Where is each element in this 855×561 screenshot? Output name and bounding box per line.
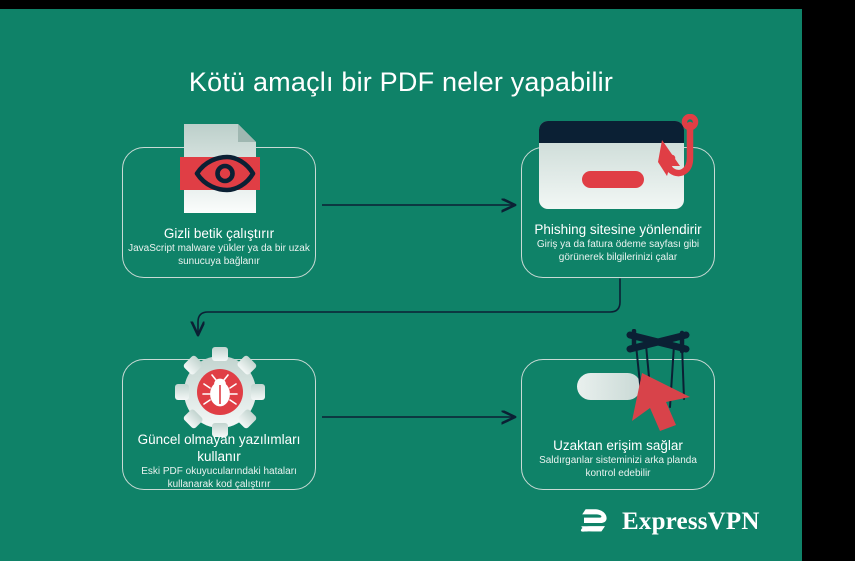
screenshot-canvas: Kötü amaçlı bir PDF neler yapabilir xyxy=(0,0,855,561)
node-hidden-script-text: Gizli betik çalıştırır JavaScript malwar… xyxy=(122,225,316,268)
brand-name: ExpressVPN xyxy=(622,508,760,536)
node-phishing-redirect-subtitle: Giriş ya da fatura ödeme sayfası gibi gö… xyxy=(527,239,709,264)
node-outdated-software-subtitle: Eski PDF okuyucularındaki hataları kulla… xyxy=(128,466,310,491)
node-outdated-software-title: Güncel olmayan yazılımları kullanır xyxy=(128,431,310,465)
page-title: Kötü amaçlı bir PDF neler yapabilir xyxy=(0,65,802,99)
node-outdated-software-text: Güncel olmayan yazılımları kullanır Eski… xyxy=(122,431,316,491)
infographic-stage: Kötü amaçlı bir PDF neler yapabilir xyxy=(0,9,802,561)
node-hidden-script-title: Gizli betik çalıştırır xyxy=(128,225,310,242)
gear-bug-icon xyxy=(174,346,266,438)
pdf-eye-icon xyxy=(180,120,260,217)
node-phishing-redirect-text: Phishing sitesine yönlendirir Giriş ya d… xyxy=(521,221,715,264)
expressvpn-e-icon xyxy=(578,506,610,538)
puppet-cursor-icon xyxy=(524,329,714,439)
brand-logo: ExpressVPN xyxy=(578,506,760,538)
node-remote-access-subtitle: Saldırganlar sisteminizi arka planda kon… xyxy=(527,455,709,480)
node-phishing-redirect-title: Phishing sitesine yönlendirir xyxy=(527,221,709,238)
arrow-phishing-to-outdated xyxy=(198,279,620,335)
node-remote-access-title: Uzaktan erişim sağlar xyxy=(527,437,709,454)
node-hidden-script-subtitle: JavaScript malware yükler ya da bir uzak… xyxy=(128,243,310,268)
browser-hook-icon xyxy=(524,114,714,209)
node-remote-access-text: Uzaktan erişim sağlar Saldırganlar siste… xyxy=(521,437,715,480)
